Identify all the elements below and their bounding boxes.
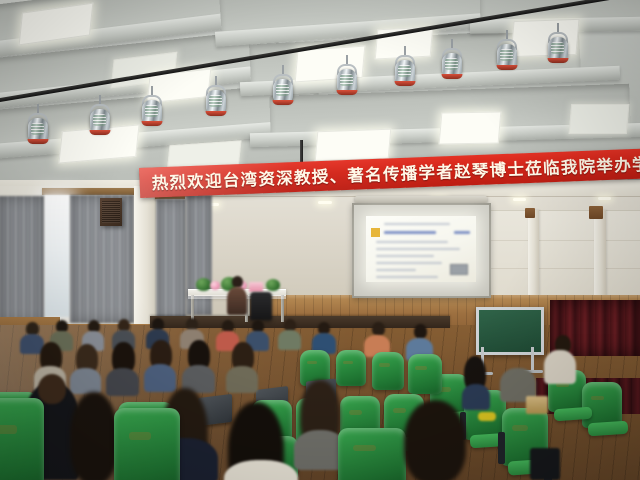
potted-flower (210, 281, 220, 290)
auditorium-seat[interactable] (338, 428, 406, 480)
audience-member (70, 392, 118, 480)
presentation-slide (366, 216, 476, 282)
ceiling-downlight (598, 197, 611, 200)
slide-image-placeholder (450, 264, 468, 275)
slide-body-line (376, 276, 438, 278)
pilaster-capital (589, 206, 603, 219)
auditorium-seat[interactable] (0, 398, 44, 480)
recessed-fluorescent-panel (569, 104, 630, 134)
audience-member (38, 374, 66, 404)
slide-body-line (376, 255, 434, 257)
handbag (526, 396, 548, 414)
recessed-fluorescent-panel (510, 19, 579, 57)
slide-body-line (376, 241, 448, 243)
auditorium-seat[interactable] (336, 350, 366, 386)
audience-member (278, 330, 301, 350)
projection-screen-casing (355, 196, 487, 203)
ceiling-downlight (513, 198, 526, 201)
yellow-shoe (478, 412, 496, 421)
audience-member (414, 324, 427, 339)
potted-plant (266, 279, 280, 291)
slide-logo (371, 228, 380, 237)
audience-member (106, 368, 139, 396)
audience-member (372, 322, 385, 336)
seated-speaker-body (227, 287, 247, 315)
wall-pier (134, 186, 156, 336)
window (44, 195, 70, 317)
auditorium-seat[interactable] (408, 354, 442, 394)
lecture-hall-photo: // fill lamp internals document.querySel… (0, 0, 640, 480)
slide-title-line (384, 223, 450, 225)
slide-body-line (376, 248, 460, 250)
left-window-wall (0, 186, 185, 336)
window-curtain (0, 196, 44, 324)
projector-mount-pole (300, 140, 303, 164)
ceiling-downlight (318, 201, 332, 204)
window-curtain (156, 199, 186, 321)
auditorium-seat[interactable] (114, 408, 180, 480)
audience-member (544, 350, 576, 384)
projection-screen[interactable] (352, 203, 491, 298)
window-frame (42, 188, 134, 195)
audience-member (144, 364, 176, 392)
audience-member (226, 366, 258, 393)
auditorium-seat[interactable] (372, 352, 404, 390)
dark-office-chair (250, 292, 272, 320)
recessed-fluorescent-panel (315, 129, 392, 162)
seat-pad[interactable] (588, 421, 629, 437)
audience-member (404, 400, 466, 480)
slide-body-line (376, 262, 442, 264)
recessed-fluorescent-panel (439, 111, 502, 144)
potted-plant (196, 278, 211, 291)
slide-body-line (376, 269, 416, 271)
seat-arm-rail (498, 432, 505, 464)
pilaster-capital (525, 208, 535, 218)
wall-mounted-speaker (100, 198, 122, 226)
slide-heading-line (454, 231, 470, 234)
slide-heading-line (384, 231, 436, 234)
table-sign (249, 282, 263, 292)
rolling-bag (530, 448, 560, 480)
audience-member (70, 368, 101, 394)
